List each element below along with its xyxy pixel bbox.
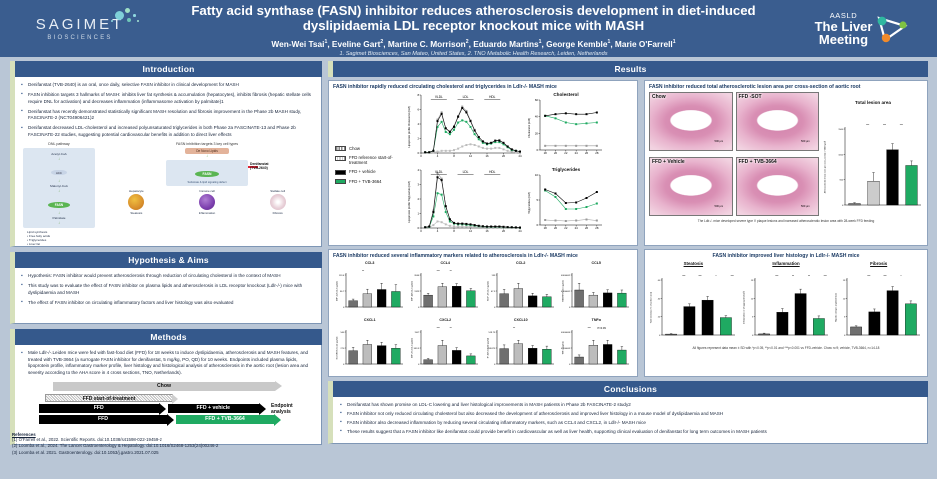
svg-text:RANTES/CCL5 (pg/ml): RANTES/CCL5 (pg/ml): [562, 280, 565, 302]
cell-type-stellate: Stellate cell Fibrosis: [246, 189, 310, 215]
svg-text:113.4: 113.4: [339, 275, 345, 277]
svg-text:**: **: [792, 274, 794, 278]
inflammatory-chart-grid: CCL3 056.7113.4MIP-1α/CCL3 (pg/ml)** CCL…: [333, 261, 633, 373]
svg-text:LDL: LDL: [463, 170, 469, 174]
lesion-note: The Ldlr-/- mice developed severe type V…: [649, 219, 923, 223]
svg-text:10: 10: [535, 173, 539, 177]
legend-label: FFD + TVB-3664: [349, 179, 382, 184]
svg-text:22: 22: [564, 151, 568, 155]
svg-text:18: 18: [544, 151, 548, 155]
svg-text:0: 0: [494, 307, 496, 309]
card-title: FASN inhibitor rapidly reduced circulati…: [333, 84, 633, 90]
svg-text:2646: 2646: [415, 275, 421, 277]
svg-text:15: 15: [750, 280, 753, 282]
card-title: FASN inhibitor reduced several inflammat…: [333, 253, 633, 259]
svg-text:*: *: [901, 274, 902, 278]
conclusions-bullets: Denifanstat has shown promise on LDL-C l…: [340, 402, 920, 436]
svg-text:4: 4: [437, 154, 439, 158]
svg-text:20: 20: [502, 229, 506, 233]
svg-text:3: 3: [417, 183, 419, 187]
legend-item-chow: Chow: [335, 146, 407, 152]
svg-text:Inflammation (# of aggregates/: Inflammation (# of aggregates/mm²): [742, 291, 745, 324]
svg-text:8: 8: [453, 154, 455, 158]
svg-text:***: ***: [868, 274, 871, 278]
svg-text:28: 28: [595, 226, 599, 230]
chart-cell-CXCL10: CXCL10 0259.875519.75IP-10/CXCL10 (pg/ml…: [484, 318, 558, 373]
svg-text:15: 15: [843, 280, 846, 282]
results-column: Results FASN inhibitor rapidly reduced c…: [328, 61, 928, 444]
chart-plasma-triglycerides: 0510182022242628Triglycerides (mM): [527, 172, 605, 234]
chart-CCL4: 013232646MIP-1β/CCL4 (pg/ml)*****: [410, 265, 480, 311]
svg-text:VLDL: VLDL: [435, 170, 443, 174]
hypothesis-bullets: Hypothesis: FASN inhibitor would prevent…: [21, 273, 315, 306]
reference-item: (3) Loomba et al. 2021. Gastroenterology…: [12, 450, 342, 456]
timeline-tvb-arm: FFD + TVB-3664: [176, 415, 274, 424]
methods-header: Methods: [10, 329, 322, 345]
methods-bullets: Male Ldlr-/-.Leiden mice were fed with f…: [21, 350, 315, 376]
sagimet-logo-dots-icon: [106, 7, 142, 27]
svg-text:***: ***: [884, 274, 887, 278]
liver-chart-grid: Steatosis 0204060Total steatosis (% of s…: [649, 261, 923, 345]
sagimet-logo-subtitle: BIOSCIENCES: [47, 35, 112, 41]
svg-text:***: ***: [588, 326, 591, 330]
svg-text:8: 8: [417, 93, 419, 97]
svg-text:**: **: [450, 269, 452, 273]
chart-CXCL1: 0270540KC/GRO/CXCL1 (pg/ml): [335, 322, 405, 368]
denifanstat-code: (TVB-2640): [250, 166, 268, 170]
chart-cell-CCL3: CCL3 056.7113.4MIP-1α/CCL3 (pg/ml)**: [333, 261, 407, 316]
chart-steatosis: 0204060Total steatosis (% of surface are…: [649, 266, 737, 340]
svg-text:4: 4: [417, 122, 419, 126]
list-item: Male Ldlr-/-.Leiden mice were fed with f…: [21, 350, 315, 376]
timeline-ffd-arm1: FFD: [39, 404, 159, 413]
svg-text:553.5: 553.5: [414, 348, 420, 350]
image-label: FFD -SOT: [739, 94, 762, 100]
list-item: Denifanstat has recently demonstrated st…: [21, 109, 315, 122]
svg-text:**: **: [808, 274, 810, 278]
cell-types-row: Hepatocyte Steatosis Immune cell Inflamm…: [101, 189, 313, 215]
svg-text:HDL: HDL: [489, 170, 496, 174]
svg-text:4: 4: [437, 229, 439, 233]
svg-text:2: 2: [417, 137, 419, 141]
list-item: The effect of FASN inhibitor on circulat…: [21, 300, 315, 307]
section-hypothesis: Hypothesis & Aims Hypothesis: FASN inhib…: [10, 252, 322, 324]
chart-total-lesion-area: 050010001500Atherosclerotic lesion area …: [823, 105, 923, 213]
svg-text:18: 18: [544, 226, 548, 230]
svg-text:MIP-1α/CCL3 (pg/ml): MIP-1α/CCL3 (pg/ml): [336, 281, 338, 301]
svg-text:0: 0: [752, 335, 754, 337]
svg-text:**: **: [513, 326, 515, 330]
cell-name: Immune cell: [175, 189, 239, 193]
cholesterol-row: 0246804812162024Lipoprotein profile Chol…: [407, 92, 633, 164]
svg-text:1323: 1323: [415, 291, 421, 293]
conclusions-header: Conclusions: [328, 381, 928, 397]
aortic-root-images: Chow 500 µm FFD -SOT 500 µm FFD + Vehicl…: [649, 92, 819, 218]
hepatocyte-icon: [128, 194, 144, 210]
fasn-center-sub: Substrate & lipid signaling defect: [166, 181, 248, 184]
section-methods: Methods Male Ldlr-/-.Leiden mice were fe…: [10, 329, 322, 445]
svg-text:28: 28: [595, 151, 599, 155]
card-liver-histology: FASN inhibitor improved liver histology …: [644, 249, 928, 377]
svg-text:22: 22: [564, 226, 568, 230]
svg-text:24: 24: [575, 151, 579, 155]
histology-image-ffd-vehicle: FFD + Vehicle 500 µm: [649, 157, 733, 216]
dnl-pathway-figure: DNL pathway Acetyl-CoA ↓ ACC ↓ Malonyl-C…: [23, 142, 95, 246]
dnl-arrow-icon: ↓: [25, 211, 93, 215]
chart-plasma-cholesterol: 0204060182022242628Cholesterol (mM): [527, 97, 605, 159]
image-label: FFD + Vehicle: [652, 159, 685, 165]
svg-text:20: 20: [535, 131, 539, 135]
poster-affiliations: 1. Sagimet Biosciences, San Mateo, Unite…: [166, 51, 781, 57]
chart-cell-CCL5: CCL5 071.55000000000001143.1000000000000…: [560, 261, 634, 316]
dnl-output-item: • Liver fat: [27, 242, 95, 246]
legend-label: Chow: [349, 146, 360, 151]
svg-text:143.10000000000002: 143.10000000000002: [561, 275, 571, 277]
dnl-pathway-caption: DNL pathway: [23, 142, 95, 146]
study-design-timeline: Chow FFD start-of-treatment FFD FFD + ve…: [21, 380, 315, 428]
svg-text:**: **: [450, 326, 452, 330]
cell-outcome: Steatosis: [105, 211, 169, 215]
svg-text:1000: 1000: [838, 154, 844, 156]
denifanstat-callout: Denifanstat (TVB-2640): [250, 162, 298, 170]
svg-text:16: 16: [485, 154, 489, 158]
svg-text:Cholesterol (mM): Cholesterol (mM): [527, 118, 531, 138]
liver-note: All figures represent data mean ± SD wit…: [649, 346, 923, 350]
svg-text:6: 6: [417, 108, 419, 112]
list-item: Denifanstat has shown promise on LDL-C l…: [340, 402, 920, 409]
dnl-arrow-icon: ↓: [25, 189, 93, 193]
lipids-figure: Chow FFD reference start-of-treatment FF…: [333, 92, 633, 242]
cell-type-immune: Immune cell Inflammation: [175, 189, 239, 215]
lipids-plots: 0246804812162024Lipoprotein profile Chol…: [407, 92, 633, 242]
svg-text:0: 0: [536, 148, 538, 152]
conclusions-body: Denifanstat has shown promise on LDL-C l…: [328, 397, 928, 444]
svg-text:0: 0: [418, 307, 420, 309]
svg-text:0: 0: [418, 364, 420, 366]
svg-text:Atherosclerotic lesion area pe: Atherosclerotic lesion area per cross-se…: [823, 140, 826, 193]
timeline-sot-arrow: FFD start-of-treatment: [45, 394, 173, 402]
card-circulating-lipids: FASN inhibitor rapidly reduced circulati…: [328, 80, 638, 246]
svg-text:IP-10/CXCL10 (pg/ml): IP-10/CXCL10 (pg/ml): [487, 337, 489, 358]
svg-text:Lipoprotein profile Triglyceri: Lipoprotein profile Triglyceride (mM): [407, 181, 411, 223]
legend-label: FFD reference start-of-treatment: [349, 155, 407, 165]
chart-cell-CCL2: CCL2 067.5135MCP-1/CCL2 (pg/ml): [484, 261, 558, 316]
dnl-arrow-icon: ↓: [25, 179, 93, 183]
legend-swatch-sot-icon: [335, 156, 346, 161]
svg-text:***: ***: [775, 274, 778, 278]
svg-text:10: 10: [750, 298, 753, 300]
svg-text:0: 0: [417, 151, 419, 155]
svg-text:40: 40: [535, 115, 539, 119]
poster-title-line2: dyslipidaemia LDL receptor knockout mice…: [166, 18, 781, 33]
svg-text:*: *: [716, 274, 717, 278]
svg-text:45.900000000000006: 45.900000000000006: [561, 332, 571, 334]
poster-title-line1: Fatty acid synthase (FASN) inhibitor red…: [166, 3, 781, 18]
svg-text:16: 16: [485, 229, 489, 233]
svg-text:60: 60: [535, 98, 539, 102]
results-row-2: FASN inhibitor reduced several inflammat…: [328, 249, 928, 377]
list-item: Denifanstat (TVB-2640) is an oral, once …: [21, 82, 315, 89]
dnl-pathway-box: Acetyl-CoA ↓ ACC ↓ Malonyl-CoA ↓ FASN ↓ …: [23, 148, 95, 228]
svg-text:12: 12: [469, 154, 473, 158]
svg-text:***: ***: [437, 326, 440, 330]
svg-text:40: 40: [658, 298, 661, 300]
chart-cell-fibrosis: Fibrosis 051015Hepatic collagen (mg/tota…: [834, 261, 923, 345]
cell-name: Stellate cell: [246, 189, 310, 193]
cell-outcome: Fibrosis: [246, 211, 310, 215]
svg-text:20: 20: [554, 226, 558, 230]
chart-CXCL2: 0553.51107MIP-2/CXCL2 (pg/ml)*****: [410, 322, 480, 368]
cell-outcome: Inflammation: [175, 211, 239, 215]
section-conclusions: Conclusions Denifanstat has shown promis…: [328, 381, 928, 444]
chart-CXCL10: 0259.875519.75IP-10/CXCL10 (pg/ml)**: [486, 322, 556, 368]
fasn-target-cells-figure: FASN inhibition targets 3 key cell types…: [101, 142, 313, 246]
cells-arrow-icon: ↓: [101, 154, 313, 158]
svg-text:0: 0: [343, 364, 345, 366]
svg-text:26: 26: [585, 226, 589, 230]
chart-cell-steatosis: Steatosis 0204060Total steatosis (% of s…: [649, 261, 738, 345]
svg-text:0: 0: [420, 154, 422, 158]
cell-type-hepatocyte: Hepatocyte Steatosis: [105, 189, 169, 215]
svg-text:***: ***: [866, 123, 869, 127]
svg-text:60: 60: [658, 280, 661, 282]
svg-text:MCP-1/CCL2 (pg/ml): MCP-1/CCL2 (pg/ml): [487, 281, 489, 301]
introduction-header: Introduction: [10, 61, 322, 77]
svg-text:270: 270: [340, 348, 344, 350]
svg-text:KC/GRO/CXCL1 (pg/ml): KC/GRO/CXCL1 (pg/ml): [336, 336, 338, 359]
left-column: Introduction Denifanstat (TVB-2640) is a…: [10, 61, 322, 445]
legend-swatch-chow-icon: [335, 146, 346, 151]
svg-text:500: 500: [840, 180, 844, 182]
svg-text:0: 0: [494, 364, 496, 366]
chart-CCL5: 071.55000000000001143.10000000000002RANT…: [561, 265, 631, 311]
svg-text:LDL: LDL: [463, 95, 469, 99]
chart-cell-CXCL2: CXCL2 0553.51107MIP-2/CXCL2 (pg/ml)*****: [409, 318, 483, 373]
dnl-node-fasn: FASN: [48, 202, 71, 208]
scale-bar: 500 µm: [801, 129, 815, 147]
chart-cell-TNFa: TNFα 022.95000000000000345.9000000000000…: [560, 318, 634, 373]
introduction-body: Denifanstat (TVB-2640) is an oral, once …: [10, 77, 322, 247]
svg-text:**: **: [362, 269, 364, 273]
svg-text:5: 5: [752, 317, 754, 319]
histology-image-ffd-tvb: FFD + TVB-3664 500 µm: [736, 157, 820, 216]
svg-text:8: 8: [453, 229, 455, 233]
timeline-chow-arrow: Chow: [53, 382, 275, 391]
aasld-liver-meeting-logo: AASLD The Liver Meeting: [787, 0, 937, 57]
svg-text:TNF-α (pg/ml): TNF-α (pg/ml): [563, 341, 565, 354]
legend-swatch-vehicle-icon: [335, 170, 346, 175]
svg-text:0: 0: [536, 223, 538, 227]
introduction-bullets: Denifanstat (TVB-2640) is an oral, once …: [21, 82, 315, 138]
svg-text:0: 0: [417, 226, 419, 230]
lesion-figure: Chow 500 µm FFD -SOT 500 µm FFD + Vehicl…: [649, 92, 923, 218]
chart-inflammation: 051015Inflammation (# of aggregates/mm²)…: [742, 266, 830, 340]
aasld-line2: Meeting: [815, 33, 873, 46]
references-block: References (1) O'Farrell et al., 2022. S…: [12, 432, 342, 456]
svg-text:4: 4: [417, 168, 419, 172]
results-row-1: FASN inhibitor rapidly reduced circulati…: [328, 80, 928, 246]
svg-text:1107: 1107: [415, 332, 420, 334]
chart-lipoprotein-triglycerides: 0123404812162024Lipoprotein profile Trig…: [407, 167, 523, 237]
svg-text:10: 10: [843, 298, 846, 300]
svg-text:5: 5: [536, 198, 538, 202]
histology-image-ffd-sot: FFD -SOT 500 µm: [736, 92, 820, 151]
legend-item-tvb: FFD + TVB-3664: [335, 179, 407, 185]
hypothesis-header: Hypothesis & Aims: [10, 252, 322, 268]
svg-text:0: 0: [420, 229, 422, 233]
svg-text:540: 540: [340, 332, 344, 334]
results-header: Results: [328, 61, 928, 77]
dnl-outputs: Lipid synthesis • Free fatty acids • Tri…: [23, 230, 95, 246]
svg-text:***: ***: [682, 274, 685, 278]
scale-bar: 500 µm: [801, 194, 815, 212]
svg-text:MIP-2/CXCL2 (pg/ml): MIP-2/CXCL2 (pg/ml): [412, 338, 414, 358]
methods-body: Male Ldlr-/-.Leiden mice were fed with f…: [10, 345, 322, 445]
introduction-figures: DNL pathway Acetyl-CoA ↓ ACC ↓ Malonyl-C…: [21, 142, 315, 246]
svg-text:Lipoprotein profile Cholestero: Lipoprotein profile Cholesterol (mM): [407, 106, 411, 147]
svg-text:0: 0: [569, 364, 571, 366]
timeline-ffd-arm2: FFD: [39, 415, 167, 424]
svg-text:VLDL: VLDL: [435, 95, 443, 99]
poster-title-block: Fatty acid synthase (FASN) inhibitor red…: [160, 0, 787, 57]
legend-swatch-tvb-icon: [335, 179, 346, 184]
card-title: FASN inhibitor reduced total atheroscler…: [649, 84, 923, 90]
chart-CCL3: 056.7113.4MIP-1α/CCL3 (pg/ml)**: [335, 265, 405, 311]
poster-header: SAGIMET BIOSCIENCES Fatty acid synthase …: [0, 0, 937, 57]
svg-text:67.5: 67.5: [491, 291, 496, 293]
svg-text:24: 24: [518, 229, 522, 233]
svg-text:12: 12: [469, 229, 473, 233]
legend-item-vehicle: FFD + vehicle: [335, 169, 407, 175]
list-item: Hypothesis: FASN inhibitor would prevent…: [21, 273, 315, 280]
svg-text:56.7: 56.7: [340, 291, 345, 293]
svg-text:***: ***: [883, 123, 886, 127]
chart-cell-CXCL1: CXCL1 0270540KC/GRO/CXCL1 (pg/ml): [333, 318, 407, 373]
svg-text:5: 5: [844, 317, 846, 319]
image-label: FFD + TVB-3664: [739, 159, 777, 165]
svg-text:20: 20: [502, 154, 506, 158]
immune-cell-icon: [199, 194, 215, 210]
histology-image-chow: Chow 500 µm: [649, 92, 733, 151]
svg-text:Hepatic collagen (mg/total liv: Hepatic collagen (mg/total liver): [835, 293, 838, 322]
list-item: These results suggest that a FASN inhibi…: [340, 429, 920, 436]
liver-meeting-mark-icon: [875, 13, 909, 45]
svg-text:519.75: 519.75: [488, 332, 495, 334]
svg-text:1: 1: [417, 212, 419, 216]
fasn-center-node: FASN Substrate & lipid signaling defect …: [166, 160, 248, 186]
cell-name: Hepatocyte: [105, 189, 169, 193]
dnl-arrow-icon: ↓: [25, 157, 93, 161]
card-title: FASN inhibitor improved liver histology …: [649, 253, 923, 259]
svg-text:MIP-1β/CCL4 (pg/ml): MIP-1β/CCL4 (pg/ml): [412, 281, 414, 301]
section-introduction: Introduction Denifanstat (TVB-2640) is a…: [10, 61, 322, 247]
svg-text:Total steatosis (% of surface: Total steatosis (% of surface area): [649, 291, 652, 323]
svg-text:20: 20: [658, 317, 661, 319]
svg-text:0: 0: [659, 335, 661, 337]
chart-cell-CCL4: CCL4 013232646MIP-1β/CCL4 (pg/ml)*****: [409, 261, 483, 316]
svg-text:P=0.09: P=0.09: [598, 326, 607, 330]
legend-label: FFD + vehicle: [349, 169, 376, 174]
legend-item-sot: FFD reference start-of-treatment: [335, 155, 407, 165]
list-item: FASN inhibitor also decreased inflammati…: [340, 420, 920, 427]
svg-text:***: ***: [698, 274, 701, 278]
list-item: Denifanstat decreased LDL-cholesterol an…: [21, 125, 315, 138]
svg-text:***: ***: [900, 123, 903, 127]
sagimet-logo: SAGIMET BIOSCIENCES: [0, 0, 160, 57]
fasn-target-cells-caption: FASN inhibition targets 3 key cell types: [101, 142, 313, 146]
svg-text:24: 24: [575, 226, 579, 230]
scale-bar: 500 µm: [715, 129, 729, 147]
dnl-arrow-icon: ↓: [25, 221, 93, 225]
svg-text:1500: 1500: [838, 129, 844, 131]
svg-text:20: 20: [554, 151, 558, 155]
svg-text:***: ***: [823, 274, 826, 278]
svg-text:0: 0: [343, 307, 345, 309]
dnl-node-acc: ACC: [51, 170, 67, 175]
image-label: Chow: [652, 94, 666, 100]
list-item: This study was to evaluate the effect of…: [21, 283, 315, 296]
svg-text:0: 0: [844, 335, 846, 337]
triglycerides-row: 0123404812162024Lipoprotein profile Trig…: [407, 167, 633, 239]
hypothesis-body: Hypothesis: FASN inhibitor would prevent…: [10, 268, 322, 324]
lesion-chart-wrap: Total lesion area 050010001500Atheroscle…: [823, 92, 923, 218]
timeline-vehicle-arm: FFD + vehicle: [168, 404, 260, 413]
lipids-legend: Chow FFD reference start-of-treatment FF…: [333, 146, 407, 189]
stellate-cell-icon: [270, 194, 286, 210]
chart-lipoprotein-cholesterol: 0246804812162024Lipoprotein profile Chol…: [407, 92, 523, 162]
chart-fibrosis: 051015Hepatic collagen (mg/total liver)*…: [834, 266, 922, 340]
svg-text:24: 24: [518, 154, 522, 158]
svg-text:***: ***: [731, 274, 734, 278]
svg-text:26: 26: [585, 151, 589, 155]
list-item: FASN inhibitor not only reduced circulat…: [340, 411, 920, 418]
chart-TNFa: 022.95000000000000345.900000000000006TNF…: [561, 322, 631, 368]
svg-text:0: 0: [842, 205, 844, 207]
card-inflammatory-markers: FASN inhibitor reduced several inflammat…: [328, 249, 638, 377]
chart-CCL2: 067.5135MCP-1/CCL2 (pg/ml): [486, 265, 556, 311]
scale-bar: 500 µm: [715, 194, 729, 212]
svg-text:Triglycerides (mM): Triglycerides (mM): [527, 192, 531, 214]
fasn-enzyme-label: FASN: [195, 171, 218, 177]
svg-text:2: 2: [417, 197, 419, 201]
poster-authors: Wen-Wei Tsai1, Eveline Gart2, Martine C.…: [166, 37, 781, 49]
svg-text:***: ***: [437, 269, 440, 273]
list-item: FASN inhibition targets 3 hallmarks of M…: [21, 92, 315, 105]
svg-text:HDL: HDL: [489, 95, 496, 99]
svg-text:135: 135: [491, 275, 495, 277]
card-lesion-area: FASN inhibitor reduced total atheroscler…: [644, 80, 928, 246]
chart-cell-inflammation: Inflammation 051015Inflammation (# of ag…: [742, 261, 831, 345]
svg-text:0: 0: [569, 307, 571, 309]
